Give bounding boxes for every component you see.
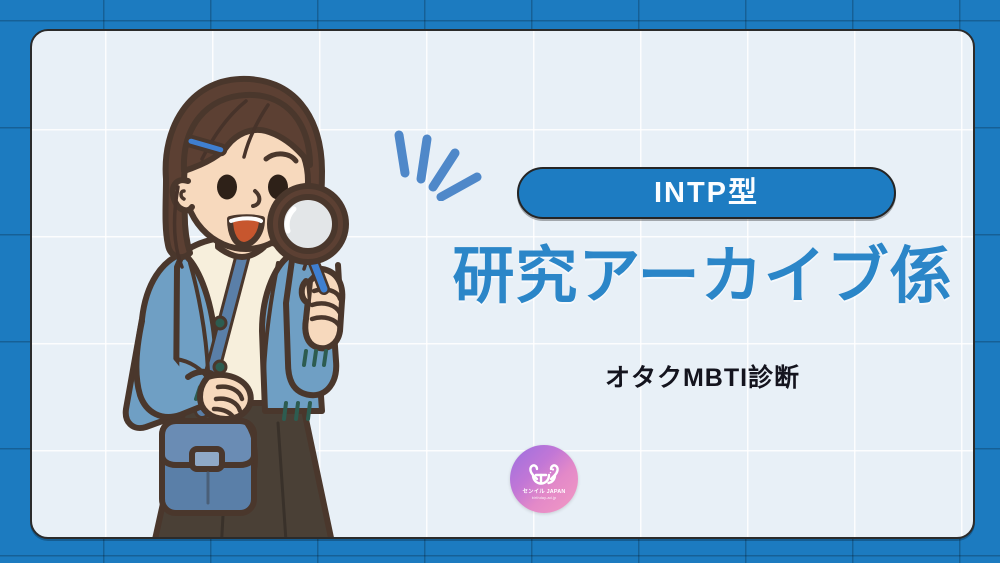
page-title: 研究アーカイブ係 — [432, 246, 973, 308]
heart-cat-logo-icon — [524, 462, 564, 488]
poster-canvas: INTP型 研究アーカイブ係 オタクMBTI診断 — [0, 0, 1000, 563]
page-subtitle: オタクMBTI診断 — [432, 366, 973, 391]
poster-content: INTP型 研究アーカイブ係 オタクMBTI診断 — [432, 31, 973, 537]
brand-logo: センイル JAPAN birthday-ad.jp — [510, 445, 578, 513]
logo-tagline: birthday-ad.jp — [532, 497, 557, 501]
girl-with-magnifier-illustration — [50, 31, 410, 537]
poster-card: INTP型 研究アーカイブ係 オタクMBTI診断 — [30, 29, 975, 539]
mbti-type-label: INTP型 — [654, 179, 759, 208]
mbti-type-badge: INTP型 — [517, 167, 896, 219]
logo-name: センイル JAPAN — [523, 490, 566, 495]
